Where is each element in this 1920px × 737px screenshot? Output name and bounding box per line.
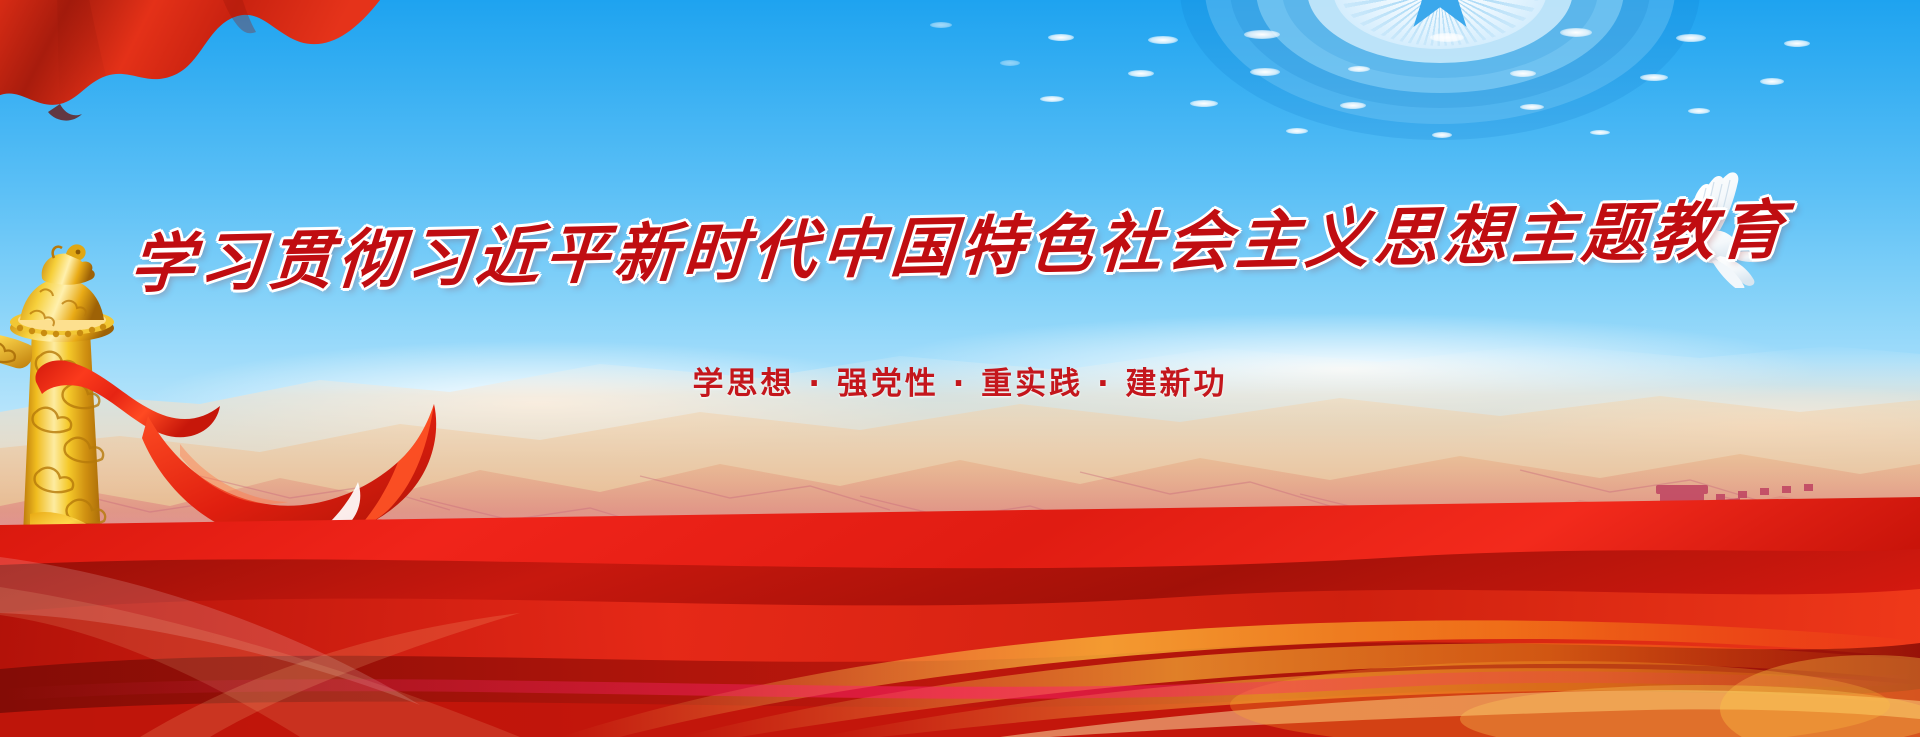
cloud-speck: [930, 22, 952, 28]
cloud-speck: [1250, 68, 1280, 76]
title-container: 学习贯彻习近平新时代中国特色社会主义思想主题教育: [0, 196, 1920, 288]
sub-title: 学思想 · 强党性 · 重实践 · 建新功: [692, 358, 1227, 403]
cloud-speck: [1676, 34, 1706, 42]
cloud-speck: [1640, 74, 1668, 81]
cloud-speck: [1286, 128, 1308, 134]
flag-curl: [48, 104, 82, 121]
main-title: 学习贯彻习近平新时代中国特色社会主义思想主题教育: [128, 179, 1793, 306]
cloud-speck: [1688, 108, 1710, 114]
red-wave-bands: [0, 437, 1920, 737]
cloud-speck: [1244, 30, 1280, 39]
cloud-speck: [1784, 40, 1810, 47]
cloud-speck: [1340, 102, 1366, 109]
cloud-speck: [1430, 33, 1464, 42]
cloud-speck: [1128, 70, 1154, 77]
cloud-speck: [1520, 104, 1544, 110]
subtitle-container: 学思想 · 强党性 · 重实践 · 建新功: [0, 358, 1920, 403]
cloud-speck: [1760, 78, 1784, 85]
cloud-speck: [1432, 132, 1452, 138]
cloud-speck: [1190, 100, 1218, 107]
cloud-speck: [1148, 36, 1178, 44]
party-education-banner: 学习贯彻习近平新时代中国特色社会主义思想主题教育 学思想 · 强党性 · 重实践…: [0, 0, 1920, 737]
cloud-speck: [1048, 34, 1074, 41]
waving-red-flag: [0, 0, 380, 150]
cloud-speck: [1590, 130, 1610, 135]
flag-body: [0, 0, 380, 122]
cloud-speck: [1510, 70, 1536, 77]
cloud-speck: [1348, 66, 1370, 72]
cloud-speck: [1040, 96, 1064, 102]
cloud-speck: [1000, 60, 1020, 66]
cloud-speck: [1560, 28, 1592, 37]
